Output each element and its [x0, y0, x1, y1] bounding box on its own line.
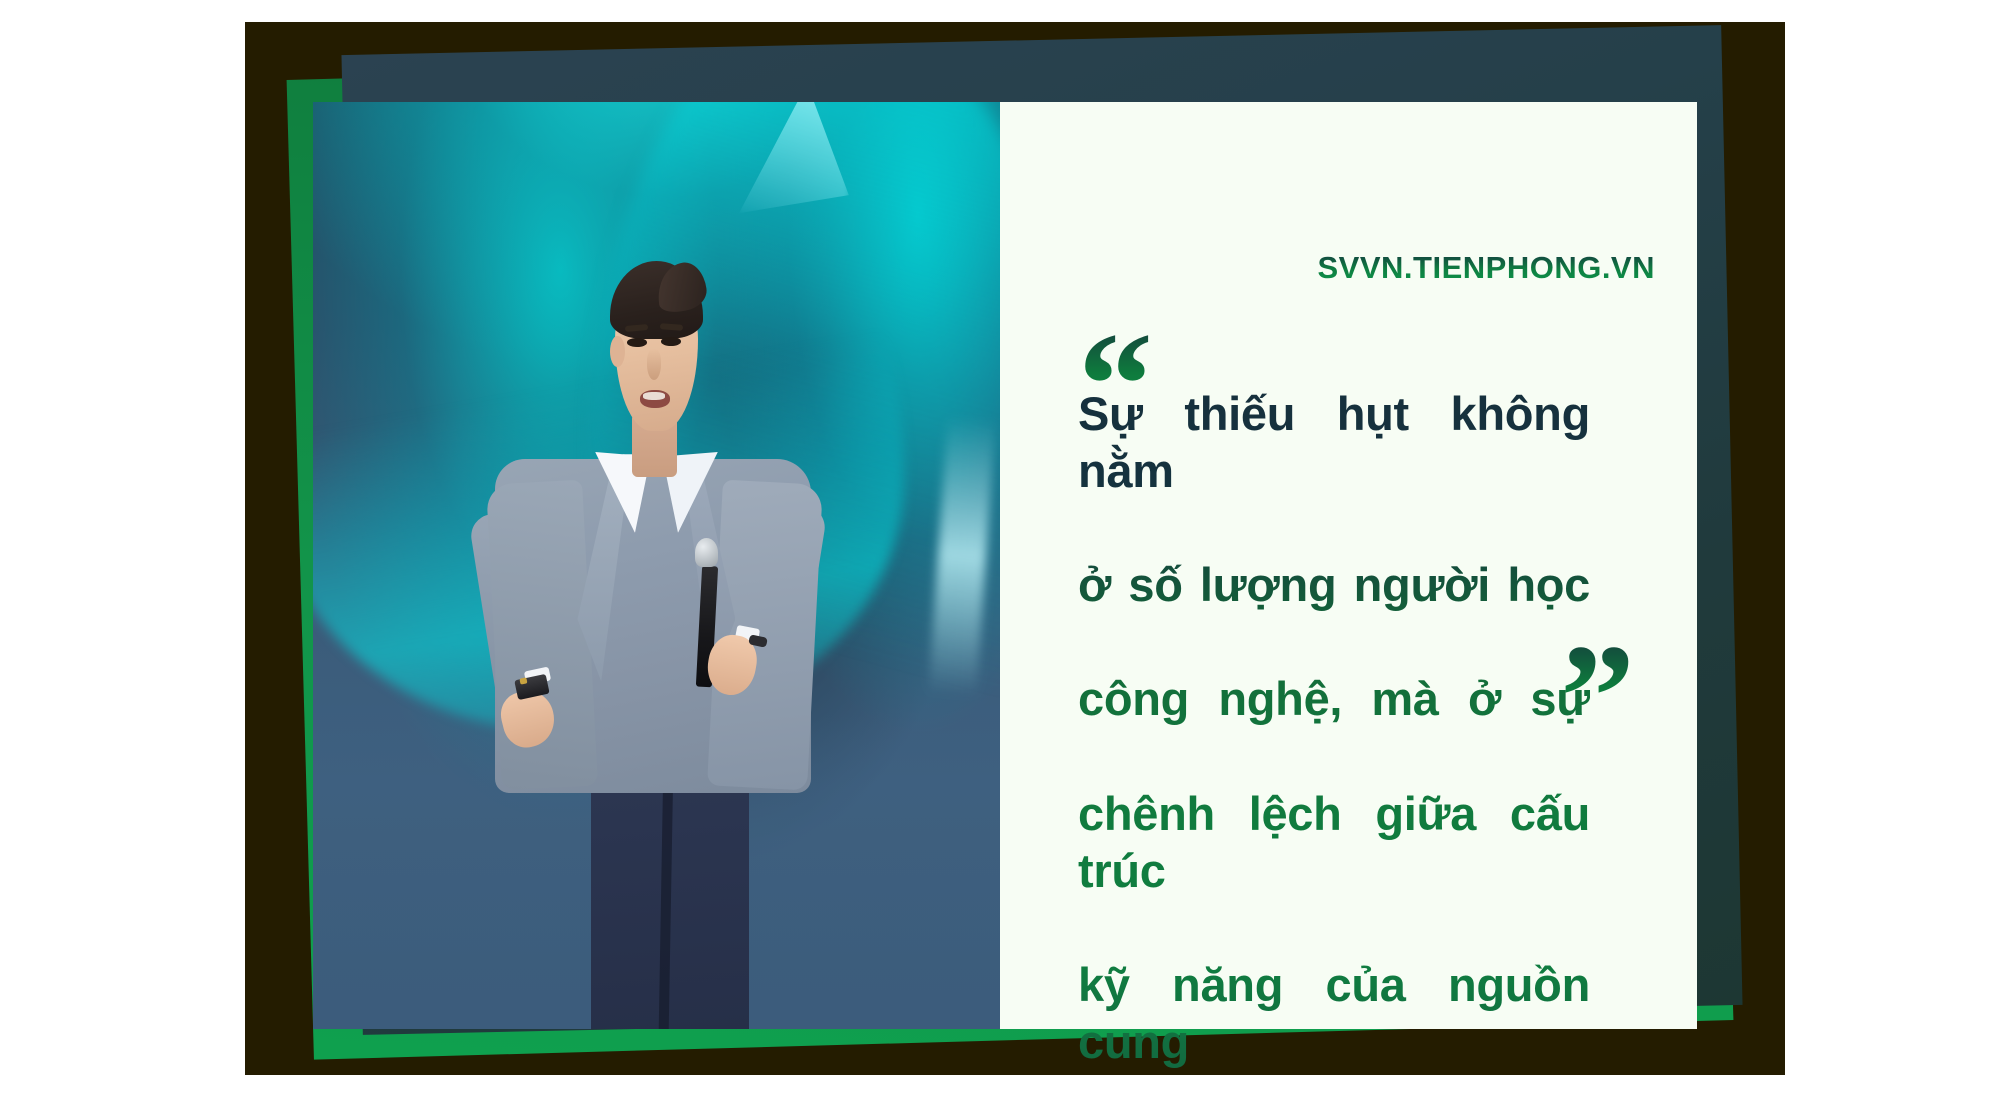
quote-line: công nghệ, mà ở sự [1078, 670, 1590, 784]
ear [610, 336, 625, 368]
quote-card: SVVN.TIENPHONG.VN “ Sự thiếu hụt không n… [1000, 102, 1697, 1029]
quote-line: kỹ năng của nguồn cung [1078, 956, 1590, 1097]
blazer-left-panel [486, 480, 598, 791]
quote-line: ở số lượng người học [1078, 556, 1590, 670]
teeth [643, 392, 665, 399]
quote-line: Sự thiếu hụt không nằm [1078, 385, 1590, 556]
close-quote-icon: ” [1560, 622, 1635, 772]
quote-text: Sự thiếu hụt không nằm ở số lượng người … [1078, 385, 1590, 1097]
speaker-photo [313, 102, 1000, 1029]
speaker-figure [313, 102, 1000, 1029]
quote-card-graphic: SVVN.TIENPHONG.VN “ Sự thiếu hụt không n… [0, 0, 2000, 1097]
microphone-head [695, 538, 718, 568]
site-brand-label: SVVN.TIENPHONG.VN [1318, 250, 1656, 286]
quote-line: chênh lệch giữa cấu trúc [1078, 785, 1590, 956]
